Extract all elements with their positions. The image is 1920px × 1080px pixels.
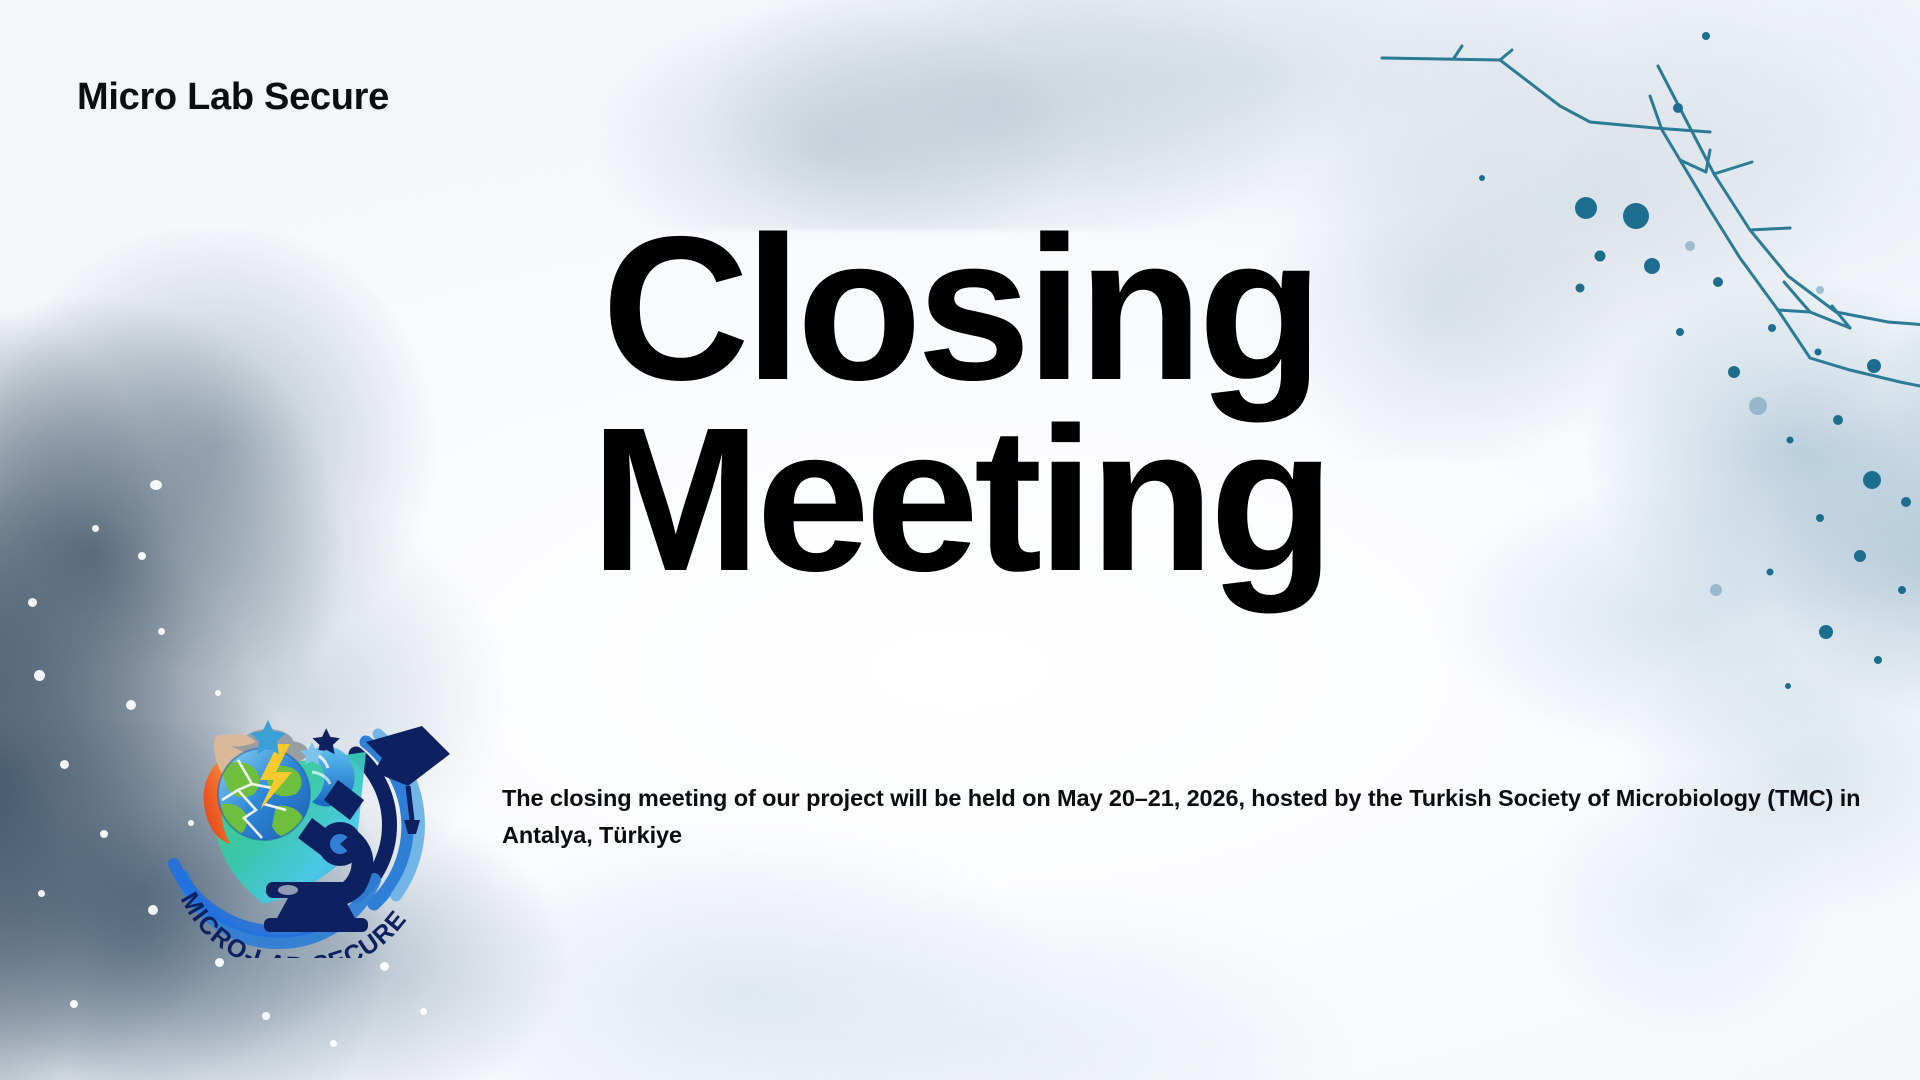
micro-lab-secure-logo: MICRO-LAB-SECURE — [160, 668, 450, 958]
brand-title: Micro Lab Secure — [77, 76, 389, 119]
watercolor-wash-bottom — [380, 830, 1460, 1080]
slide-canvas: Micro Lab Secure Closing Meeting The clo… — [0, 0, 1920, 1080]
decorative-splatter-dots-upper — [1420, 0, 1720, 240]
page-title: Closing Meeting — [0, 214, 1920, 595]
page-title-line-2: Meeting — [0, 405, 1920, 596]
page-title-line-1: Closing — [0, 214, 1920, 405]
meeting-description: The closing meeting of our project will … — [502, 780, 1862, 853]
globe-icon — [218, 748, 310, 840]
